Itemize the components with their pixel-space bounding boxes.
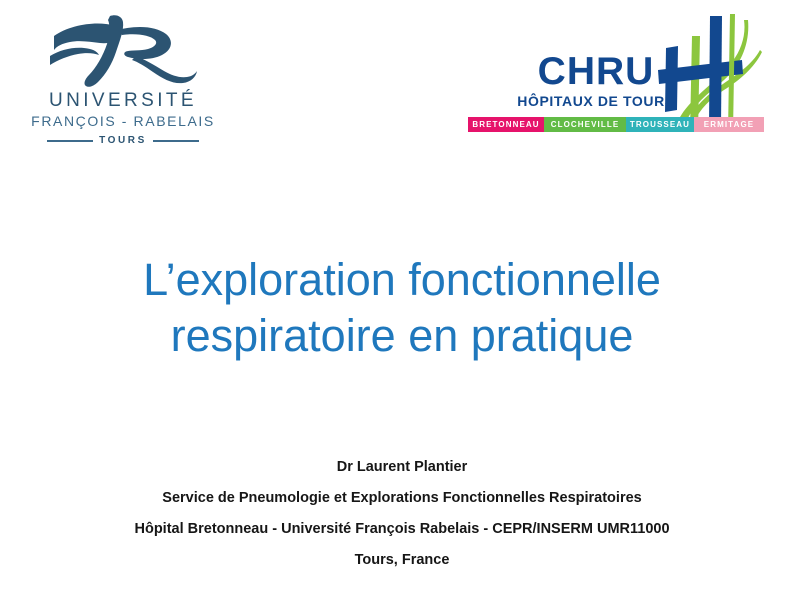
- university-city-row: TOURS: [28, 135, 218, 146]
- university-name-line: UNIVERSITÉ: [28, 90, 218, 112]
- author-name: Dr Laurent Plantier: [42, 452, 762, 483]
- chru-wordmark: CHRU HÔPITAUX DE TOURS: [496, 52, 696, 110]
- chru-hospital-segment: CLOCHEVILLE: [544, 117, 626, 132]
- chru-hospitals-bar: BRETONNEAUCLOCHEVILLETROUSSEAUERMITAGE: [468, 117, 764, 132]
- slide-subtitle-block: Dr Laurent Plantier Service de Pneumolog…: [42, 452, 762, 576]
- university-monogram-icon: [44, 12, 204, 90]
- chru-tagline: HÔPITAUX DE TOURS: [496, 92, 696, 110]
- slide-title-line-2: respiratoire en pratique: [60, 308, 744, 364]
- chru-hospital-segment: ERMITAGE: [694, 117, 764, 132]
- university-wordmark: UNIVERSITÉ FRANÇOIS - RABELAIS TOURS: [28, 90, 218, 146]
- chru-hospital-segment: BRETONNEAU: [468, 117, 544, 132]
- presentation-slide: UNIVERSITÉ FRANÇOIS - RABELAIS TOURS: [0, 0, 804, 603]
- chru-name: CHRU: [496, 52, 696, 92]
- rule-right: [153, 140, 199, 142]
- chru-hospital-segment: TROUSSEAU: [626, 117, 694, 132]
- location-line: Tours, France: [42, 545, 762, 576]
- university-subname-line: FRANÇOIS - RABELAIS: [28, 112, 218, 131]
- department-line: Service de Pneumologie et Explorations F…: [42, 483, 762, 514]
- rule-left: [47, 140, 93, 142]
- slide-title: L’exploration fonctionnelle respiratoire…: [60, 252, 744, 364]
- slide-title-line-1: L’exploration fonctionnelle: [60, 252, 744, 308]
- university-logo: UNIVERSITÉ FRANÇOIS - RABELAIS TOURS: [28, 12, 218, 152]
- affiliation-line: Hôpital Bretonneau - Université François…: [42, 514, 762, 545]
- chru-logo: CHRU HÔPITAUX DE TOURS BRETONNEAUCLOCHEV…: [468, 14, 764, 136]
- university-city-label: TOURS: [99, 135, 147, 146]
